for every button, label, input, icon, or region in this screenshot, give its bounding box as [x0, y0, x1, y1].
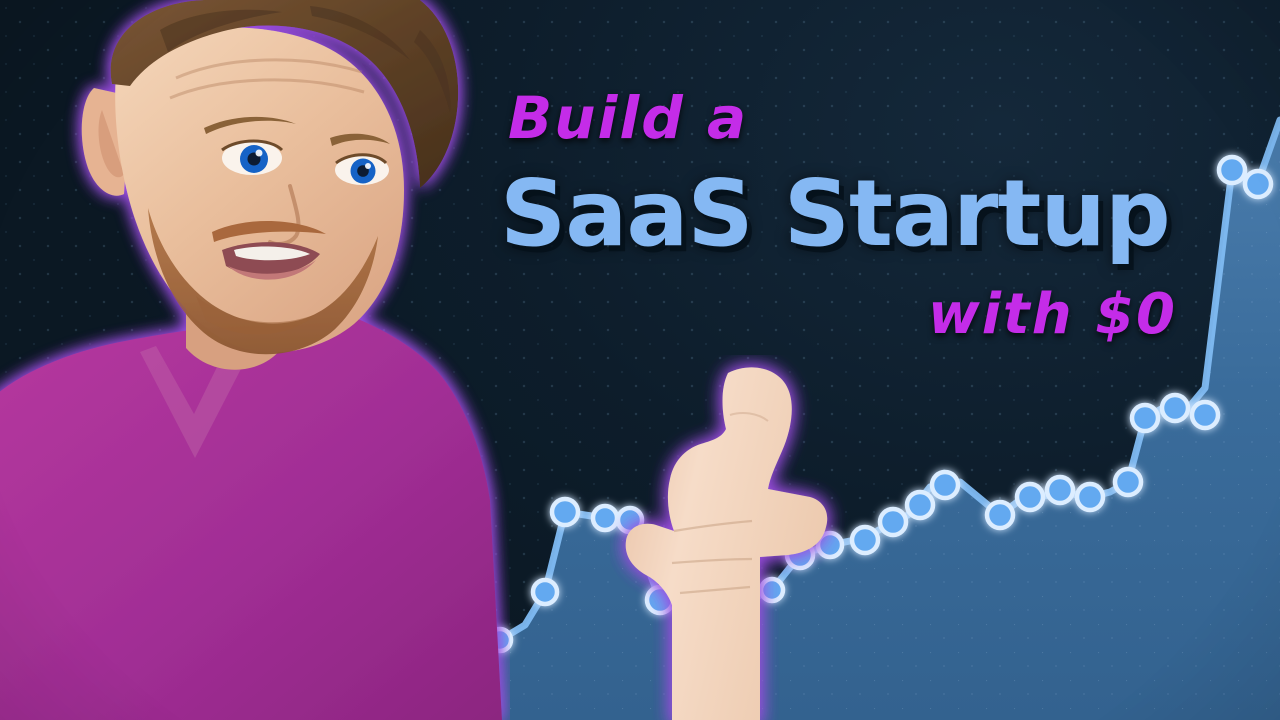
thumbnail-canvas: Build a SaaS Startup with $0: [0, 0, 1280, 720]
growth-chart: [0, 0, 1280, 720]
chart-svg: [0, 0, 1280, 720]
